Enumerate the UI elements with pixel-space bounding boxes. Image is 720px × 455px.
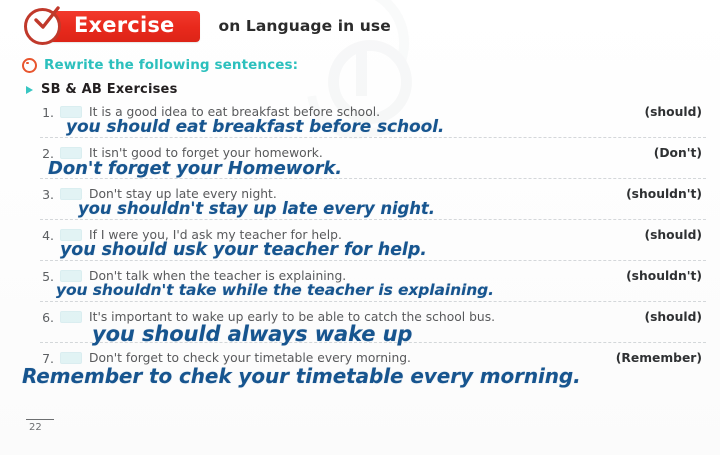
handwritten-answer[interactable]: you shouldn't stay up late every night. [78,199,435,218]
highlight-badge-icon [60,352,82,364]
triangle-bullet-icon [26,86,33,94]
answer-rule [40,301,706,302]
question-number: 5. [38,269,54,284]
instruction-text: Rewrite the following sentences: [44,57,298,73]
question-hint: (should) [644,310,710,324]
watermark-bar [356,48,367,96]
handwritten-answer[interactable]: Don't forget your Homework. [48,158,342,179]
target-bullet-icon [22,58,37,73]
question-hint: (should) [644,105,710,119]
header-subtitle: on Language in use [218,17,390,35]
highlight-badge-icon [60,311,82,323]
question-number: 1. [38,105,54,120]
page-footer: 22 [22,419,62,433]
exercise-list: 1. It is a good idea to eat breakfast be… [0,104,720,391]
subhead-text: SB & AB Exercises [41,82,178,97]
handwritten-answer[interactable]: you should eat breakfast before school. [66,117,444,137]
question-text: Don't forget to check your timetable eve… [89,351,411,365]
question-number: 6. [38,310,54,325]
exercise-item: 7. Don't forget to check your timetable … [0,350,720,391]
exercise-item: 4. If I were you, I'd ask my teacher for… [0,227,720,268]
check-mark-icon [31,5,61,35]
exercise-item: 2. It isn't good to forget your homework… [0,145,720,186]
answer-rule [40,260,706,261]
instruction-line: Rewrite the following sentences: [22,57,298,73]
page-number: 22 [22,422,62,433]
answer-rule [40,219,706,220]
question-hint: (shouldn't) [626,187,710,201]
exercise-header: Exercise on Language in use [0,8,720,44]
exercise-item: 5. Don't talk when the teacher is explai… [0,268,720,309]
question-hint: (Don't) [654,146,710,160]
exercise-item: 1. It is a good idea to eat breakfast be… [0,104,720,145]
exercise-label: Exercise [44,11,200,42]
worksheet-page: Exercise on Language in use Rewrite the … [0,0,720,455]
exercise-item: 6. It's important to wake up early to be… [0,309,720,350]
handwritten-answer[interactable]: you should always wake up [92,322,412,346]
handwritten-answer[interactable]: you shouldn't take while the teacher is … [56,281,494,299]
footer-divider [26,419,54,420]
question-number: 3. [38,187,54,202]
exercise-badge: Exercise [44,11,200,42]
answer-rule [40,137,706,138]
question-hint: (Remember) [616,351,710,365]
question-number: 4. [38,228,54,243]
handwritten-answer[interactable]: you should usk your teacher for help. [60,240,427,260]
exercise-item: 3. Don't stay up late every night. (shou… [0,186,720,227]
handwritten-answer[interactable]: Remember to chek your timetable every mo… [22,364,581,388]
question-hint: (should) [644,228,710,242]
subhead-line: SB & AB Exercises [26,82,178,97]
question-hint: (shouldn't) [626,269,710,283]
